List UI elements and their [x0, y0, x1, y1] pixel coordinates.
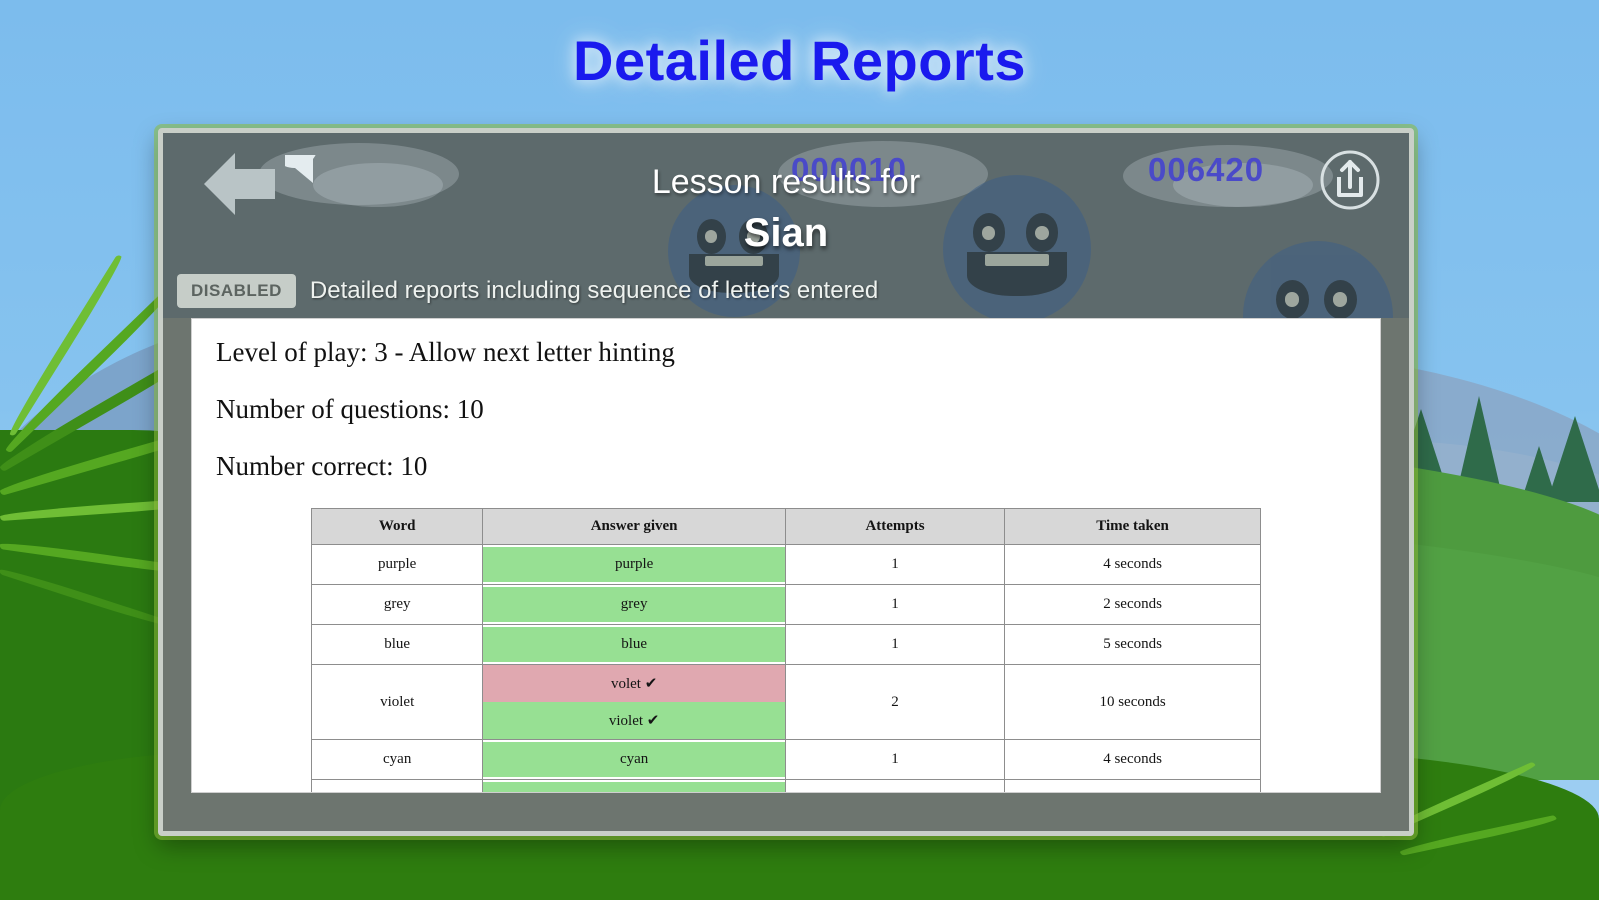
cell-word: violet: [312, 665, 483, 740]
table-header-row: WordAnswer givenAttemptsTime taken: [312, 509, 1261, 545]
results-table: WordAnswer givenAttemptsTime taken purpl…: [311, 508, 1261, 793]
table-header: WordAnswer givenAttemptsTime taken: [312, 509, 1261, 545]
cell-time-taken: 4 seconds: [1005, 780, 1261, 794]
column-header-word: Word: [312, 509, 483, 545]
cell-time-taken: 5 seconds: [1005, 625, 1261, 665]
cell-word: purple: [312, 545, 483, 585]
answer-attempt-correct: blue: [483, 627, 785, 662]
cell-answer-given: orange: [483, 780, 786, 794]
cell-word: orange: [312, 780, 483, 794]
page-title: Detailed Reports: [0, 28, 1599, 93]
report-body: Level of play: 3 - Allow next letter hin…: [191, 318, 1381, 793]
cell-answer-given: purple: [483, 545, 786, 585]
cell-time-taken: 2 seconds: [1005, 585, 1261, 625]
table-row: violetvolet ✔violet ✔210 seconds: [312, 665, 1261, 740]
cell-word: grey: [312, 585, 483, 625]
cell-answer-given: grey: [483, 585, 786, 625]
report-dialog: 000010 006420 Lesson results for Sian DI…: [158, 128, 1414, 836]
table-row: blueblue15 seconds: [312, 625, 1261, 665]
pine-tree: [1547, 416, 1599, 502]
answer-attempt-correct: grey: [483, 587, 785, 622]
table-row: greygrey12 seconds: [312, 585, 1261, 625]
cell-answer-given: cyan: [483, 740, 786, 780]
dialog-header: 000010 006420 Lesson results for Sian DI…: [163, 133, 1409, 318]
share-icon[interactable]: [1319, 149, 1381, 211]
cell-attempts: 1: [785, 585, 1004, 625]
back-arrow-icon[interactable]: [201, 151, 279, 217]
answer-attempt-correct: orange: [483, 782, 785, 793]
answer-attempt-correct: cyan: [483, 742, 785, 777]
cell-attempts: 1: [785, 545, 1004, 585]
answer-attempt-correct: purple: [483, 547, 785, 582]
student-name: Sian: [163, 211, 1409, 256]
cell-word: cyan: [312, 740, 483, 780]
cell-time-taken: 4 seconds: [1005, 740, 1261, 780]
cell-attempts: 2: [785, 665, 1004, 740]
table-row: orangeorange14 seconds: [312, 780, 1261, 794]
column-header-attempts: Attempts: [785, 509, 1004, 545]
status-badge[interactable]: DISABLED: [177, 274, 296, 308]
timer-icon[interactable]: [285, 155, 341, 211]
answer-attempt-correct: violet ✔: [483, 702, 785, 739]
cell-attempts: 1: [785, 625, 1004, 665]
column-header-answer-given: Answer given: [483, 509, 786, 545]
cell-time-taken: 10 seconds: [1005, 665, 1261, 740]
cell-attempts: 1: [785, 740, 1004, 780]
cell-answer-given: volet ✔violet ✔: [483, 665, 786, 740]
table-row: purplepurple14 seconds: [312, 545, 1261, 585]
subheader-text: Detailed reports including sequence of l…: [310, 277, 878, 305]
cell-word: blue: [312, 625, 483, 665]
number-of-questions: Number of questions: 10: [216, 394, 1356, 425]
header-title: Lesson results for: [163, 163, 1409, 202]
cell-attempts: 1: [785, 780, 1004, 794]
table-body: purplepurple14 secondsgreygrey12 seconds…: [312, 545, 1261, 794]
table-row: cyancyan14 seconds: [312, 740, 1261, 780]
cell-time-taken: 4 seconds: [1005, 545, 1261, 585]
number-correct: Number correct: 10: [216, 451, 1356, 482]
answer-attempt-wrong: volet ✔: [483, 665, 785, 702]
column-header-time-taken: Time taken: [1005, 509, 1261, 545]
cell-answer-given: blue: [483, 625, 786, 665]
level-of-play: Level of play: 3 - Allow next letter hin…: [216, 337, 1356, 368]
background-scene: Detailed Reports: [0, 0, 1599, 900]
subheader-row: DISABLED Detailed reports including sequ…: [177, 274, 1395, 308]
